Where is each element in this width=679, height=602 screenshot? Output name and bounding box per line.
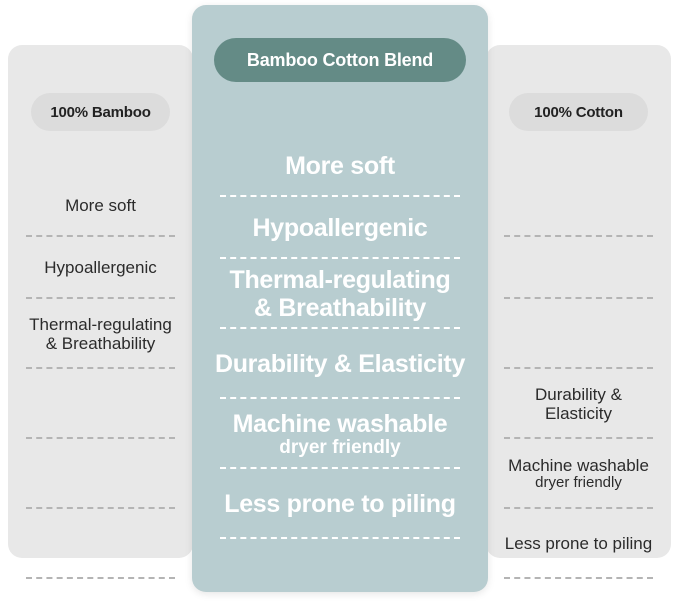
feature-row-empty [486,237,671,299]
feature-label: More soft [277,152,403,180]
feature-row-empty [8,369,193,439]
feature-row: Machine washable dryer friendly [192,399,488,469]
column-header-cotton: 100% Cotton [509,93,648,131]
column-title-blend: Bamboo Cotton Blend [247,50,433,71]
feature-row: More soft [8,175,193,237]
feature-row-empty [8,439,193,509]
feature-row: Durability & Elasticity [192,329,488,399]
feature-label: Less prone to piling [497,534,660,553]
column-header-bamboo: 100% Bamboo [31,93,170,131]
column-title-cotton: 100% Cotton [534,104,623,121]
feature-label: Thermal-regulating& Breathability [21,315,180,353]
feature-row-empty [486,175,671,237]
feature-label: Hypoallergenic [244,214,435,242]
row-divider [26,577,175,579]
feature-row: Less prone to piling [486,509,671,579]
feature-row: Durability &Elasticity [486,369,671,439]
feature-list-blend: More soft Hypoallergenic Thermal-regulat… [192,135,488,539]
column-card-blend: Bamboo Cotton Blend More soft Hypoallerg… [192,5,488,592]
feature-row: Thermal-regulating& Breathability [192,259,488,329]
feature-label: Hypoallergenic [36,258,164,277]
row-divider [504,577,653,579]
feature-sublabel: dryer friendly [279,438,400,459]
feature-row-empty [8,509,193,579]
feature-label: Durability & Elasticity [207,350,473,378]
feature-row: Hypoallergenic [192,197,488,259]
column-card-bamboo: 100% Bamboo More soft Hypoallergenic The… [8,45,193,558]
column-header-blend: Bamboo Cotton Blend [214,38,466,82]
feature-label: Less prone to piling [216,490,464,518]
feature-row: Hypoallergenic [8,237,193,299]
feature-row-empty [486,299,671,369]
column-title-bamboo: 100% Bamboo [50,104,150,121]
feature-row: More soft [192,135,488,197]
feature-row: Machine washable dryer friendly [486,439,671,509]
feature-list-cotton: Durability &Elasticity Machine washable … [486,175,671,579]
feature-label: Machine washable [500,456,657,475]
feature-label: Durability &Elasticity [527,385,630,423]
feature-list-bamboo: More soft Hypoallergenic Thermal-regulat… [8,175,193,579]
row-divider [220,537,460,539]
feature-row: Thermal-regulating& Breathability [8,299,193,369]
feature-sublabel: dryer friendly [535,475,622,492]
feature-label: Machine washable [225,410,456,438]
feature-row: Less prone to piling [192,469,488,539]
comparison-chart: 100% Bamboo More soft Hypoallergenic The… [0,0,679,602]
feature-label: Thermal-regulating& Breathability [221,266,458,322]
feature-label: More soft [57,196,144,215]
column-card-cotton: 100% Cotton Durability &Elasticity Machi… [486,45,671,558]
